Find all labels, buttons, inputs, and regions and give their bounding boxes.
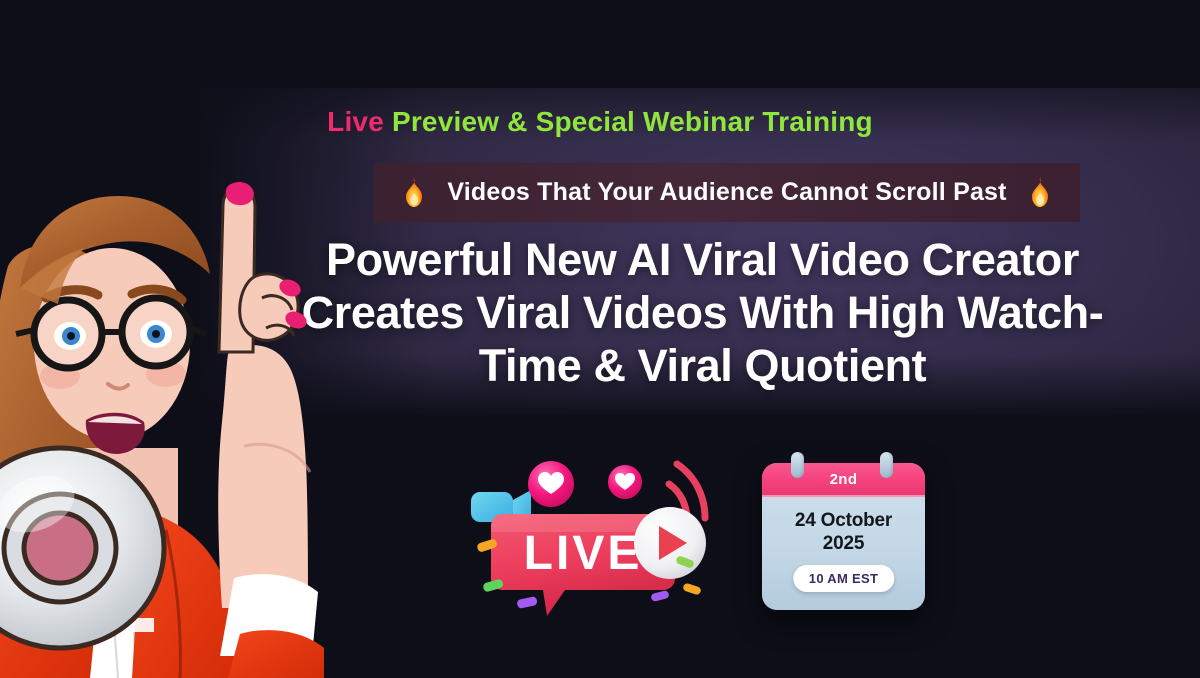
headline-line-3: Time & Viral Quotient bbox=[215, 339, 1190, 392]
eyebrow-tagline: Live Preview & Special Webinar Training bbox=[0, 106, 1200, 138]
calendar-ring-right bbox=[880, 452, 893, 478]
headline-line-2: Creates Viral Videos With High Watch- bbox=[215, 286, 1190, 339]
eyebrow-rest-text: Preview & Special Webinar Training bbox=[384, 106, 873, 137]
webinar-date-calendar: 2nd 24 October 2025 10 AM EST bbox=[762, 452, 925, 610]
fire-icon bbox=[399, 176, 429, 210]
headline-line-1: Powerful New AI Viral Video Creator bbox=[215, 233, 1190, 286]
fire-icon bbox=[1025, 176, 1055, 210]
calendar-date-line-2: 2025 bbox=[762, 532, 925, 555]
calendar-time-pill: 10 AM EST bbox=[793, 565, 894, 592]
calendar-body: 2nd 24 October 2025 10 AM EST bbox=[762, 463, 925, 610]
presenter-illustration bbox=[0, 148, 350, 678]
live-stream-illustration: LIVE bbox=[455, 440, 730, 625]
hook-badge-text: Videos That Your Audience Cannot Scroll … bbox=[447, 178, 1006, 207]
calendar-date-line-1: 24 October bbox=[762, 509, 925, 532]
eyebrow-live-word: Live bbox=[327, 106, 384, 137]
calendar-rings bbox=[762, 452, 925, 478]
page-title: Powerful New AI Viral Video Creator Crea… bbox=[215, 233, 1190, 392]
live-label: LIVE bbox=[524, 527, 643, 580]
hook-badge: Videos That Your Audience Cannot Scroll … bbox=[374, 163, 1080, 222]
calendar-ring-left bbox=[791, 452, 804, 478]
calendar-date: 24 October 2025 bbox=[762, 509, 925, 555]
